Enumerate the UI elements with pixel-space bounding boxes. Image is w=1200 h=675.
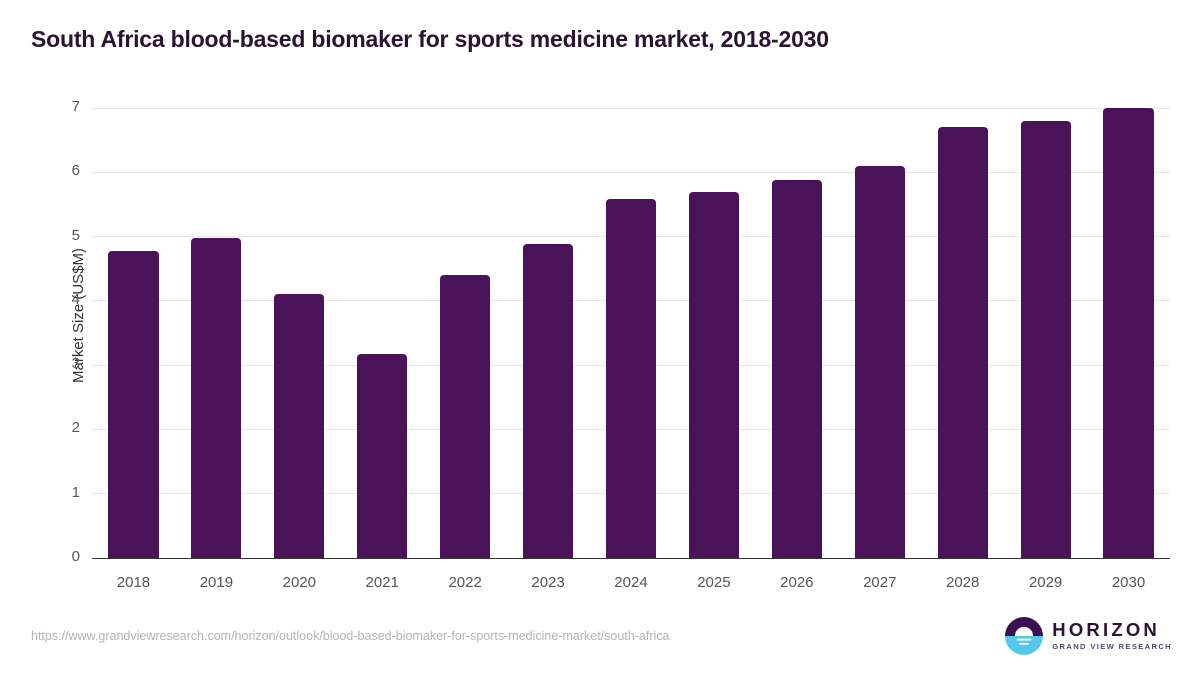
bar[interactable] bbox=[1103, 108, 1153, 558]
y-axis-tick-label: 5 bbox=[56, 227, 80, 244]
y-axis-tick-label: 2 bbox=[56, 419, 80, 436]
bar[interactable] bbox=[357, 354, 407, 558]
x-axis-tick-label: 2026 bbox=[755, 574, 838, 591]
y-axis-tick-label: 1 bbox=[56, 484, 80, 501]
x-axis-tick-label: 2020 bbox=[258, 574, 341, 591]
x-axis-tick-label: 2023 bbox=[507, 574, 590, 591]
bar[interactable] bbox=[440, 275, 490, 558]
x-axis-tick-label: 2018 bbox=[92, 574, 175, 591]
x-axis-tick-label: 2021 bbox=[341, 574, 424, 591]
source-url[interactable]: https://www.grandviewresearch.com/horizo… bbox=[31, 629, 669, 643]
bar[interactable] bbox=[772, 180, 822, 558]
y-axis-tick-label: 3 bbox=[56, 355, 80, 372]
bars-group bbox=[92, 108, 1170, 558]
horizon-logo[interactable]: HORIZON GRAND VIEW RESEARCH bbox=[1005, 617, 1172, 655]
x-axis-tick-label: 2028 bbox=[921, 574, 1004, 591]
x-axis-tick-label: 2030 bbox=[1087, 574, 1170, 591]
bar[interactable] bbox=[855, 166, 905, 558]
bar[interactable] bbox=[523, 244, 573, 558]
plot-area: Market Size (US$M) 01234567 201820192020… bbox=[92, 108, 1170, 558]
x-axis-tick-label: 2022 bbox=[424, 574, 507, 591]
logo-subtitle: GRAND VIEW RESEARCH bbox=[1052, 643, 1172, 651]
y-axis-tick-label: 0 bbox=[56, 548, 80, 565]
y-axis-tick-label: 4 bbox=[56, 291, 80, 308]
bar[interactable] bbox=[191, 238, 241, 558]
x-axis-tick-label: 2027 bbox=[838, 574, 921, 591]
x-axis-tick-label: 2029 bbox=[1004, 574, 1087, 591]
bar[interactable] bbox=[274, 294, 324, 558]
page-title: South Africa blood-based biomaker for sp… bbox=[31, 26, 829, 53]
bar[interactable] bbox=[1021, 121, 1071, 558]
x-axis-tick-label: 2019 bbox=[175, 574, 258, 591]
horizon-logo-text: HORIZON GRAND VIEW RESEARCH bbox=[1052, 621, 1172, 650]
x-axis-tick-label: 2024 bbox=[590, 574, 673, 591]
y-axis-tick-label: 7 bbox=[56, 98, 80, 115]
bar[interactable] bbox=[606, 199, 656, 558]
bar[interactable] bbox=[689, 192, 739, 558]
bar[interactable] bbox=[938, 127, 988, 558]
y-axis-tick-label: 6 bbox=[56, 162, 80, 179]
logo-wordmark: HORIZON bbox=[1052, 621, 1172, 640]
bar[interactable] bbox=[108, 251, 158, 558]
horizon-logo-icon bbox=[1005, 617, 1043, 655]
x-axis-tick-label: 2025 bbox=[672, 574, 755, 591]
chart-page: South Africa blood-based biomaker for sp… bbox=[0, 0, 1200, 675]
